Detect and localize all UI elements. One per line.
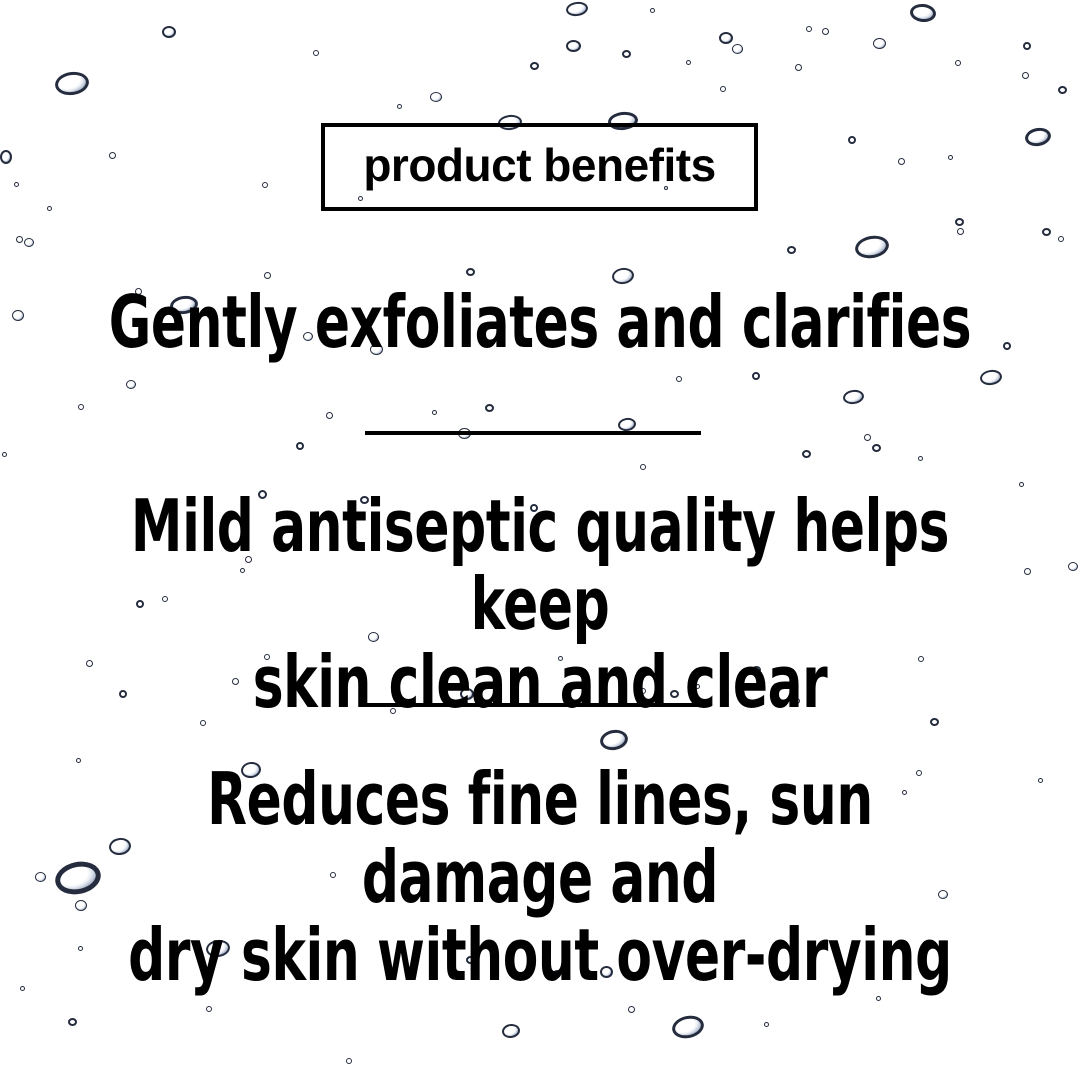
divider-rule-1 — [365, 431, 701, 435]
benefit-item-1: Gently exfoliates and clarifies — [108, 283, 972, 361]
divider-rule-2 — [365, 703, 701, 707]
section-header-box: product benefits — [321, 123, 758, 211]
benefit-item-3: Reduces fine lines, sun damage and dry s… — [108, 760, 972, 994]
benefit-item-2: Mild antiseptic quality helps keep skin … — [108, 487, 972, 721]
section-header-title: product benefits — [363, 142, 715, 188]
content-layer: product benefits Gently exfoliates and c… — [0, 0, 1080, 1080]
product-benefits-infographic: product benefits Gently exfoliates and c… — [0, 0, 1080, 1080]
